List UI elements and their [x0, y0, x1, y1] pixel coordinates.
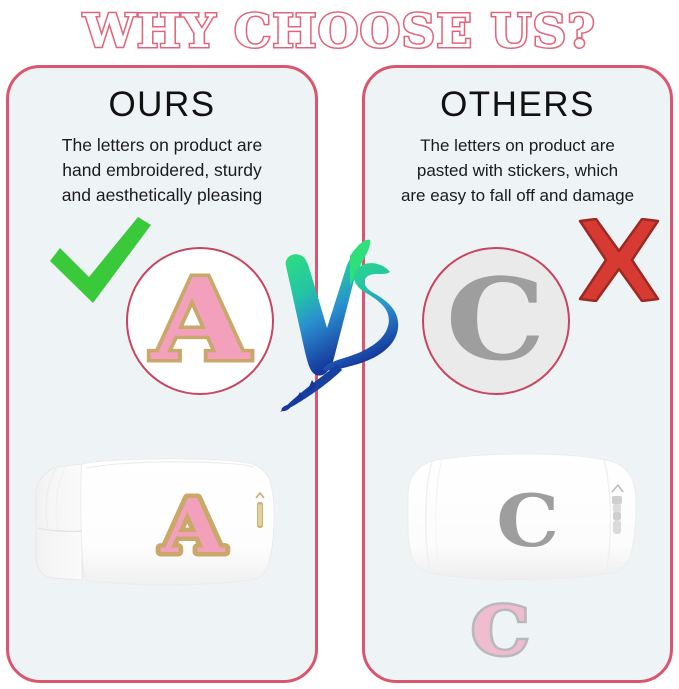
panel-others-description: The letters on product are pasted with s…	[365, 133, 670, 208]
vinyl-letter-sticker: C	[446, 265, 546, 377]
badge-others-sticker: C	[422, 247, 570, 395]
panel-ours-description: The letters on product are hand embroide…	[9, 133, 315, 208]
page-title-text: WHY CHOOSE US?	[83, 5, 596, 57]
page-title: WHY CHOOSE US?	[0, 2, 679, 60]
product-bag-others: C	[398, 450, 646, 582]
comparison-infographic: WHY CHOOSE US? OURS The letters on produ…	[0, 0, 679, 689]
fallen-letter-patch: C	[466, 596, 562, 670]
chenille-letter-patch: A	[151, 265, 248, 377]
svg-text:A: A	[160, 484, 226, 571]
product-bag-ours: A	[30, 452, 292, 592]
versus-brush-icon	[278, 238, 404, 413]
panel-others-heading: OTHERS	[365, 85, 670, 125]
panel-ours-heading: OURS	[9, 85, 315, 125]
badge-ours-patch: A	[126, 247, 274, 395]
cross-icon	[576, 218, 662, 302]
svg-text:C: C	[496, 478, 559, 563]
